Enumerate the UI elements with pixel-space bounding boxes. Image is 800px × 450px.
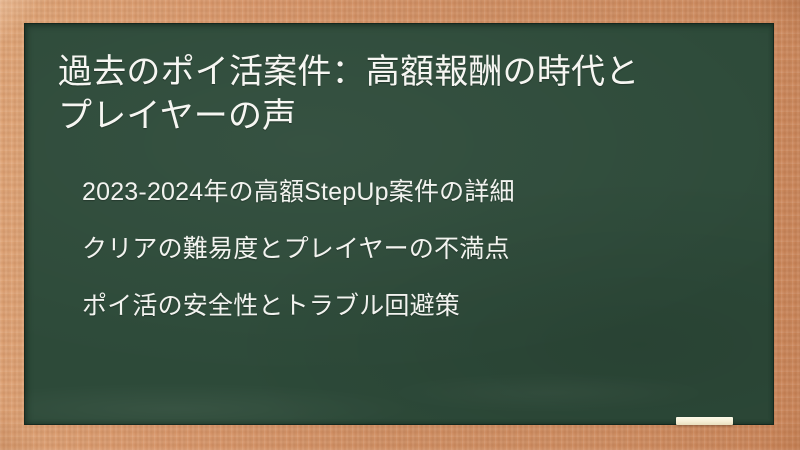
chalkboard-slide: 過去のポイ活案件：高額報酬の時代と プレイヤーの声 2023-2024年の高額S…	[0, 0, 800, 450]
chalkboard-surface: 過去のポイ活案件：高額報酬の時代と プレイヤーの声 2023-2024年の高額S…	[24, 23, 774, 425]
bullet-list: 2023-2024年の高額StepUp案件の詳細 クリアの難易度とプレイヤーの不…	[82, 176, 762, 322]
bullet-item-2: クリアの難易度とプレイヤーの不満点	[82, 233, 762, 265]
chalk-stick-icon	[676, 417, 733, 425]
bullet-item-3: ポイ活の安全性とトラブル回避策	[82, 290, 762, 322]
bullet-item-1: 2023-2024年の高額StepUp案件の詳細	[82, 176, 762, 208]
slide-title: 過去のポイ活案件：高額報酬の時代と プレイヤーの声	[58, 50, 748, 138]
